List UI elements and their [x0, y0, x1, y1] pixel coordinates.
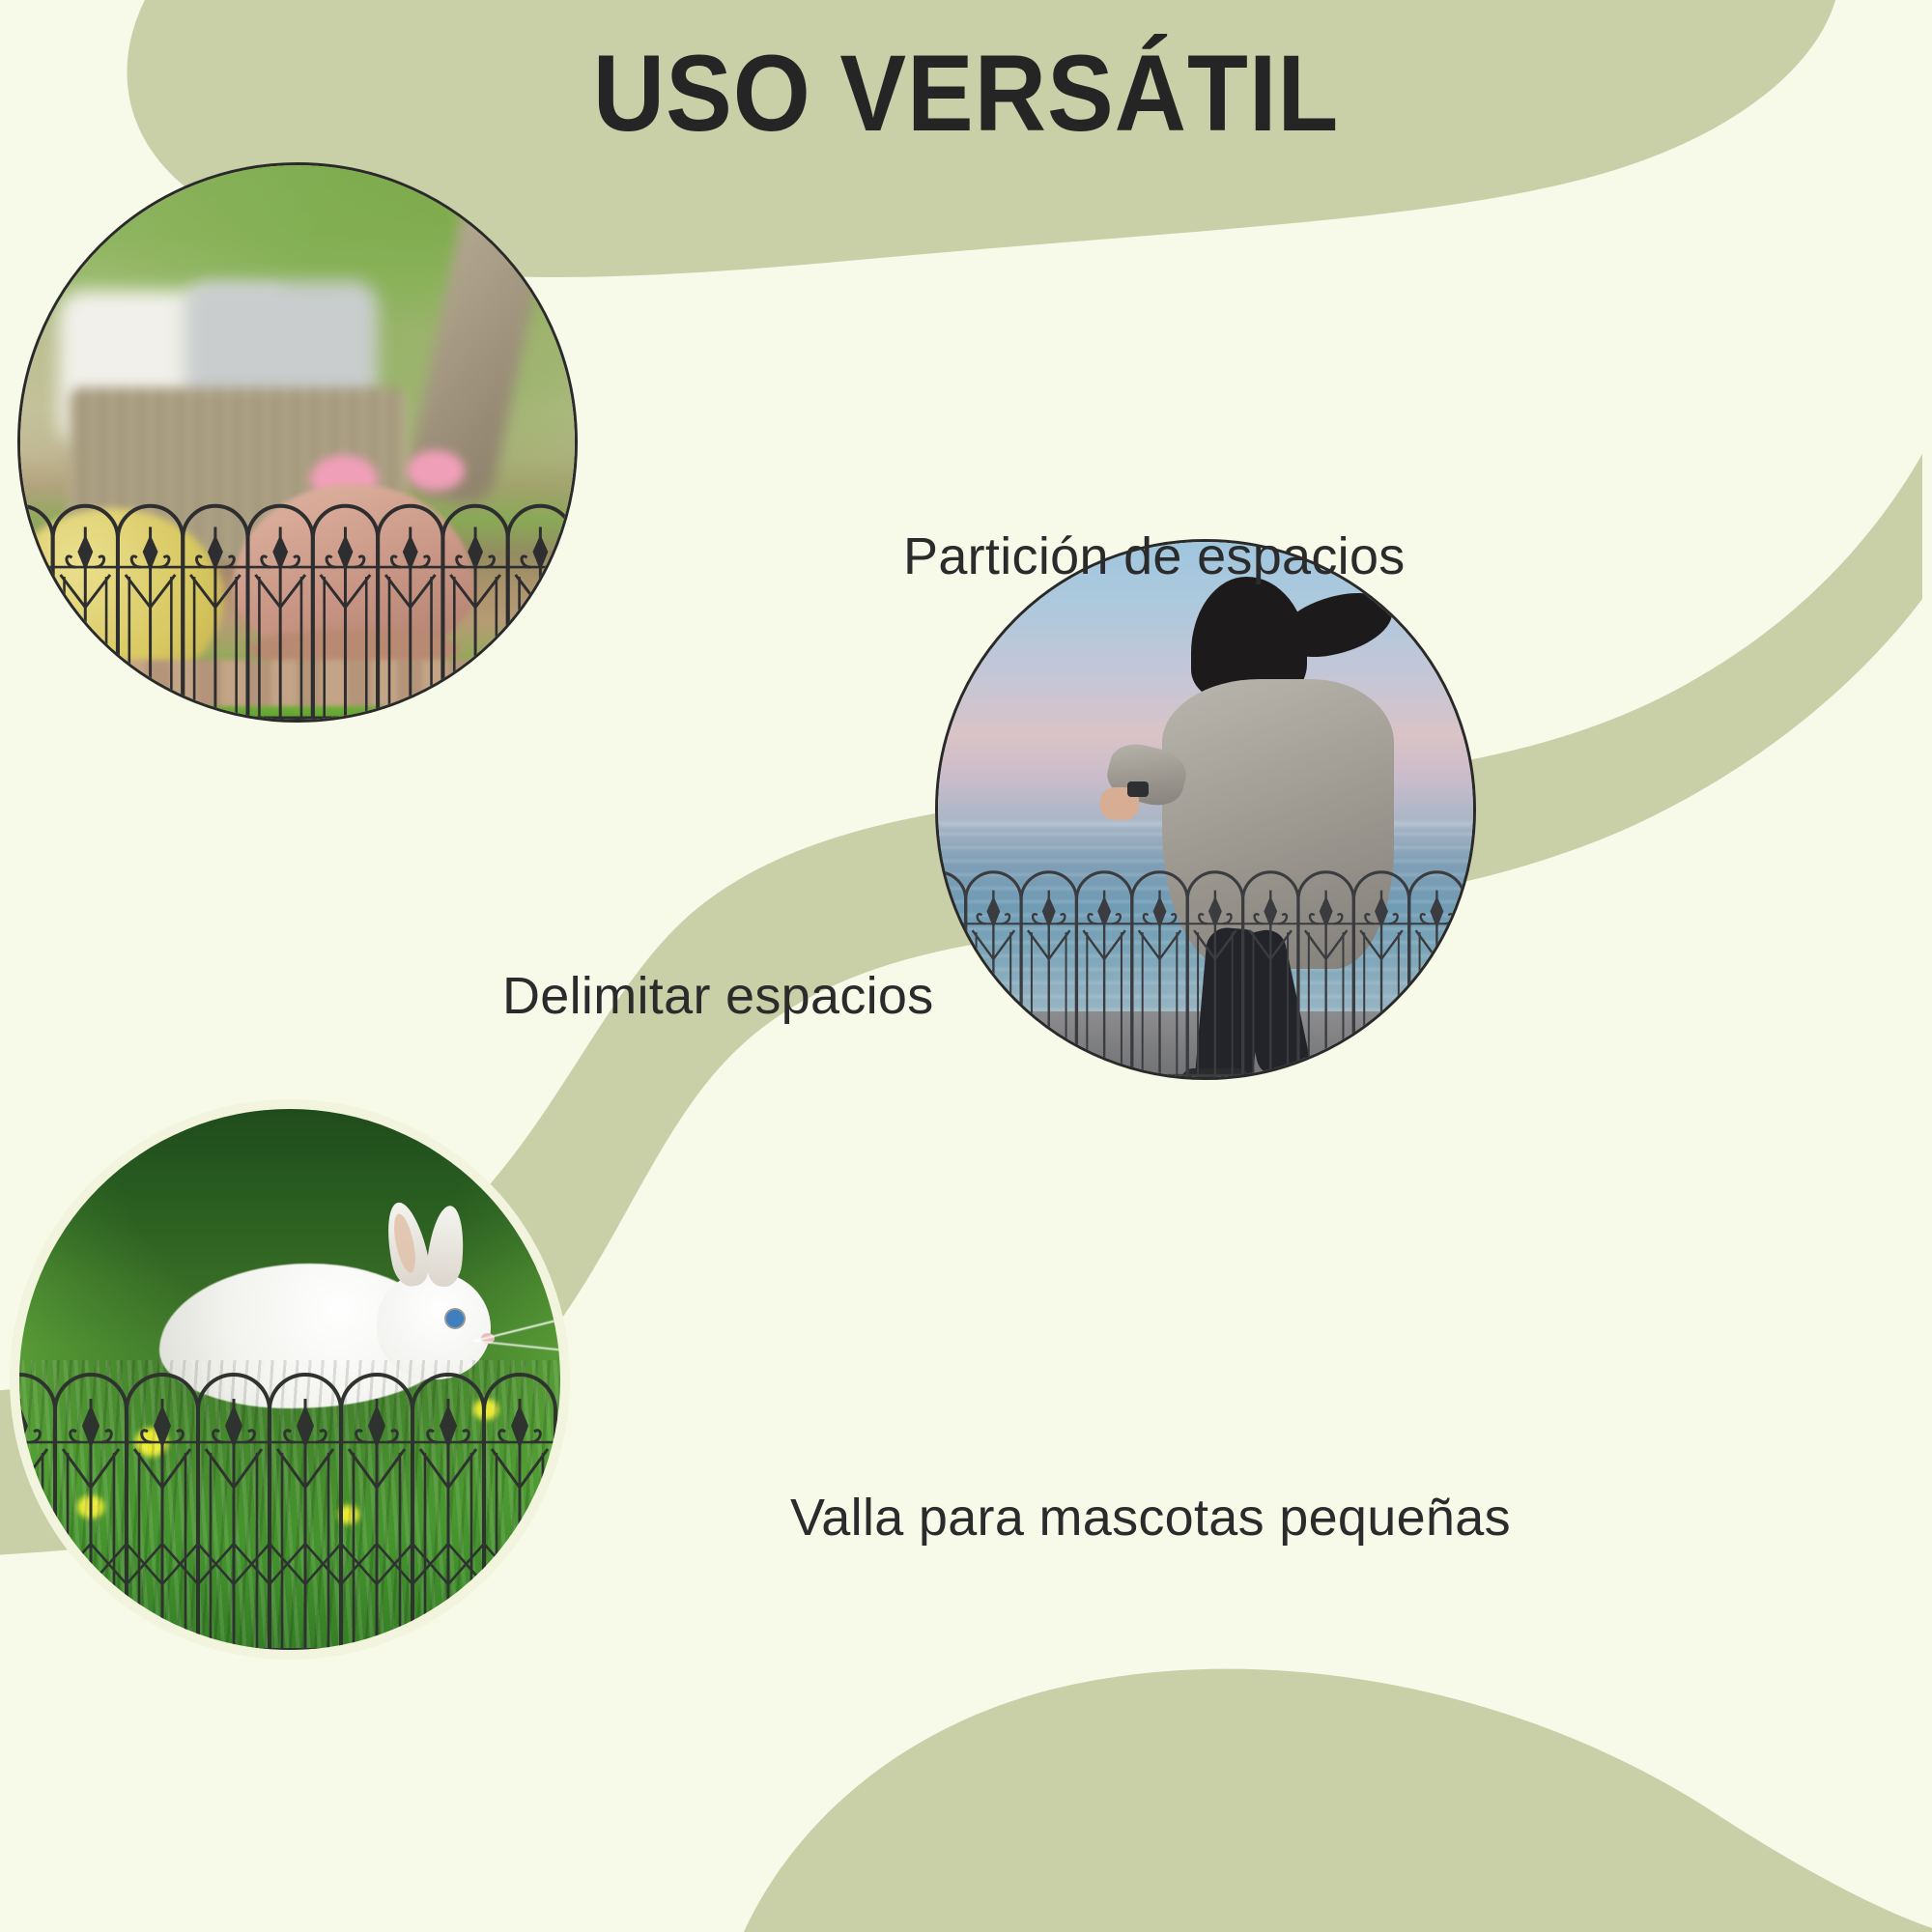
decorative-fence: [20, 430, 575, 720]
caption-small-pet-fence: Valla para mascotas pequeñas: [790, 1488, 1511, 1548]
wristwatch: [1127, 781, 1149, 797]
decorative-fence: [938, 807, 1473, 1077]
photo-small-pet-fence: [10, 1099, 570, 1660]
grass-scene: [19, 1109, 560, 1650]
poster-canvas: USO VERSÁTIL: [0, 0, 1932, 1932]
page-title: USO VERSÁTIL: [77, 37, 1855, 151]
caption-partition-spaces: Partición de espacios: [903, 526, 1406, 586]
bottom-sage-shape: [744, 1669, 1932, 1932]
caption-delimit-spaces: Delimitar espacios: [502, 966, 934, 1026]
patio-scene: [20, 165, 575, 720]
woman-hair-windblown: [1274, 586, 1399, 664]
rabbit-ear-right: [425, 1204, 469, 1288]
photo-partition-spaces: [17, 162, 578, 723]
decorative-fence: [19, 1302, 560, 1650]
photo-delimit-spaces: [935, 539, 1476, 1080]
seaside-scene: [938, 542, 1473, 1077]
